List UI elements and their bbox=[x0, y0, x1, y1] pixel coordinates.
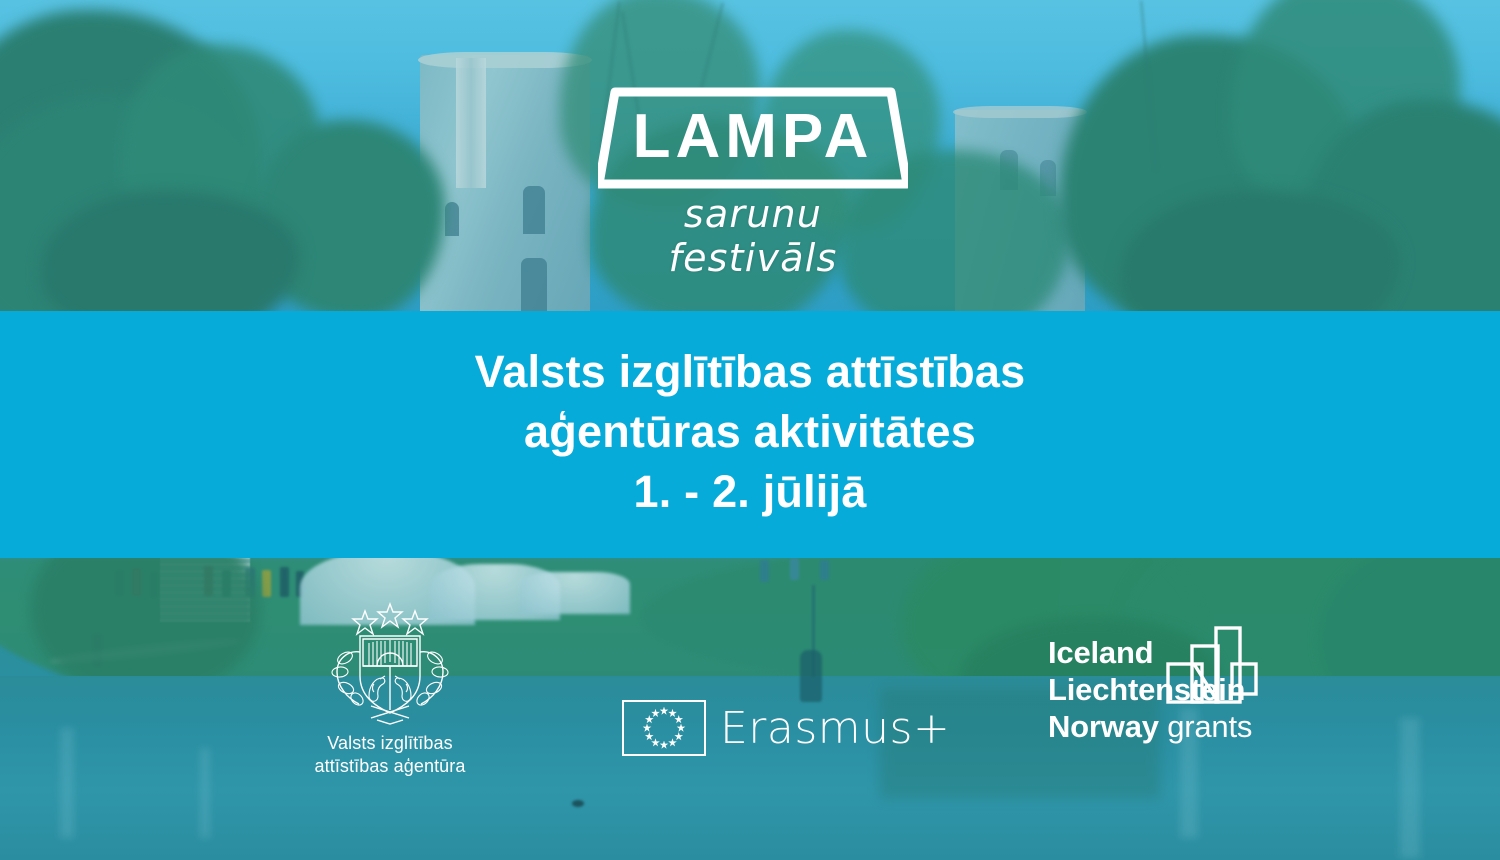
viaa-logo: Valsts izglītības attīstības aģentūra bbox=[290, 600, 490, 778]
lampa-subtitle-line2: festivāls bbox=[598, 236, 908, 280]
headline-line-1: Valsts izglītības attīstības bbox=[475, 342, 1026, 402]
eu-star-icon bbox=[645, 732, 654, 741]
eu-star-icon bbox=[651, 709, 660, 718]
eea-grants-text bbox=[1159, 709, 1167, 744]
rope-swing-person bbox=[800, 650, 822, 702]
eea-norway-grants-logo: Iceland Liechtenstein Norway grants bbox=[1048, 634, 1252, 745]
crowd-figure bbox=[262, 570, 271, 597]
viaa-label-line1: Valsts izglītības bbox=[290, 732, 490, 755]
headline-line-3: 1. - 2. jūlijā bbox=[634, 462, 867, 522]
eu-star-icon bbox=[668, 738, 677, 747]
eea-grants-blocks-icon bbox=[1166, 624, 1258, 706]
poster-canvas: LAMPA sarunu festivāls Valsts izglītības… bbox=[0, 0, 1500, 860]
viaa-label: Valsts izglītības attīstības aģentūra bbox=[290, 732, 490, 778]
castle-ruin-wall-cap bbox=[953, 106, 1087, 118]
eea-grants-word: grants bbox=[1167, 709, 1252, 744]
crowd-figure bbox=[820, 560, 829, 580]
castle-window bbox=[523, 186, 545, 234]
lampa-wordmark-text: LAMPA bbox=[633, 102, 874, 171]
viaa-label-line2: attīstības aģentūra bbox=[290, 755, 490, 778]
eea-line-norway-grants: Norway grants bbox=[1048, 708, 1252, 745]
headline-line-2: aģentūras aktivitātes bbox=[524, 402, 976, 462]
duck bbox=[572, 800, 584, 807]
lampa-logo: LAMPA sarunu festivāls bbox=[598, 84, 908, 289]
castle-metal-strip bbox=[456, 58, 486, 188]
eu-star-icon bbox=[668, 709, 677, 718]
castle-window bbox=[445, 202, 459, 236]
festival-tent bbox=[520, 572, 630, 614]
eu-flag-icon bbox=[622, 700, 706, 756]
eu-star-icon bbox=[677, 724, 686, 733]
eu-star-icon bbox=[643, 724, 652, 733]
crowd-figure bbox=[760, 560, 769, 582]
water-reflection bbox=[200, 748, 210, 838]
water-reflection bbox=[1400, 718, 1420, 858]
eu-star-icon bbox=[674, 715, 683, 724]
castle-window bbox=[521, 258, 547, 311]
eu-star-icon bbox=[674, 732, 683, 741]
crowd-figure bbox=[790, 558, 799, 580]
eu-star-icon bbox=[660, 741, 669, 750]
erasmus-plus-label: Erasmus+ bbox=[720, 703, 950, 754]
erasmus-plus-logo: Erasmus+ bbox=[622, 700, 950, 756]
lampa-subtitle: sarunu festivāls bbox=[598, 192, 908, 280]
eu-star-icon bbox=[660, 707, 669, 716]
eu-star-icon bbox=[645, 715, 654, 724]
crowd-figure bbox=[280, 567, 289, 597]
eu-star-icon bbox=[651, 738, 660, 747]
water-reflection bbox=[60, 728, 74, 838]
latvian-coat-of-arms-icon bbox=[325, 600, 455, 728]
headline-banner: Valsts izglītības attīstības aģentūras a… bbox=[0, 311, 1500, 558]
eea-norway-text: Norway bbox=[1048, 709, 1159, 744]
lampa-subtitle-line1: sarunu bbox=[598, 192, 908, 236]
